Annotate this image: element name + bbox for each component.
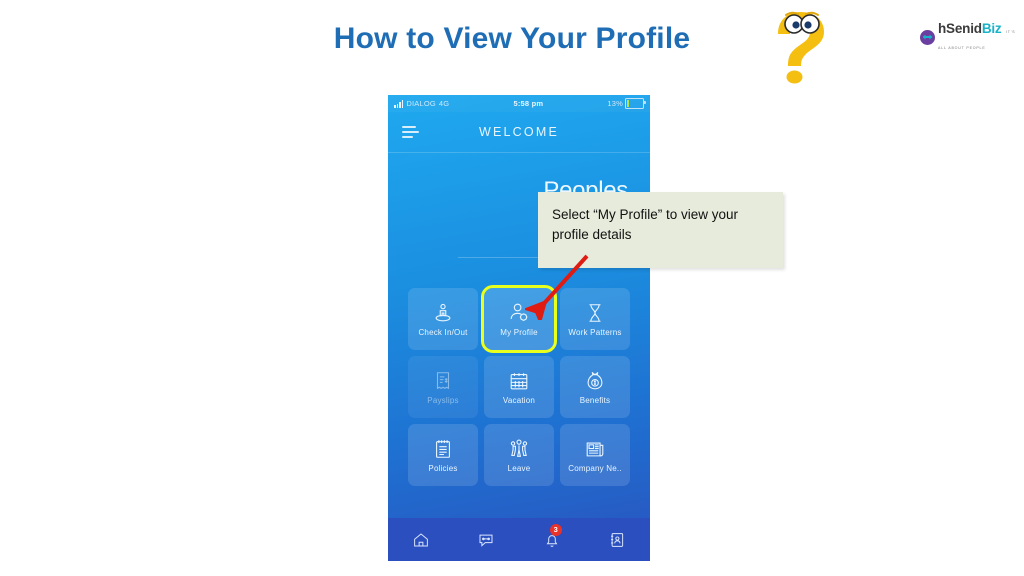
nav-contacts-button[interactable] [602,527,632,553]
tile-my-profile[interactable]: My Profile [484,288,554,350]
money-bag-icon [584,370,606,392]
nav-chat-button[interactable] [471,527,501,553]
carrier-label: DIALOG [406,99,436,108]
battery-icon [625,98,644,109]
tile-policies[interactable]: Policies [408,424,478,486]
hamburger-menu-icon[interactable] [402,123,419,141]
profile-gear-icon [508,302,530,324]
tile-grid: Check In/Out My Profile Work Patterns [408,288,630,486]
battery-percent-label: 13% [607,99,623,108]
tile-work-patterns[interactable]: Work Patterns [560,288,630,350]
tile-leave[interactable]: Leave [484,424,554,486]
tile-label: My Profile [500,328,538,337]
bottom-navigation-bar: 3 [388,518,650,561]
tile-label: Company Ne.. [568,464,622,473]
tile-label: Vacation [503,396,535,405]
signal-bars-icon [394,100,403,108]
people-group-icon [508,438,530,460]
tile-payslips[interactable]: Payslips [408,356,478,418]
page-title: How to View Your Profile [0,22,1024,56]
hourglass-icon [584,302,606,324]
tile-label: Check In/Out [418,328,467,337]
tile-benefits[interactable]: Benefits [560,356,630,418]
notepad-icon [432,438,454,460]
tile-label: Work Patterns [568,328,621,337]
tile-label: Benefits [580,396,611,405]
calendar-icon [508,370,530,392]
nav-notifications-button[interactable]: 3 [537,527,567,553]
status-bar: DIALOG 4G 5:58 pm 13% [388,95,650,112]
app-bar: WELCOME [388,112,650,153]
chat-icon [477,531,495,549]
payslip-icon [432,370,454,392]
notification-badge: 3 [550,524,562,536]
callout-box: Select “My Profile” to view your profile… [538,192,783,268]
logo-name: hSenidBiz [938,21,1001,36]
app-bar-title: WELCOME [388,125,650,139]
tile-check-in-out[interactable]: Check In/Out [408,288,478,350]
tile-vacation[interactable]: Vacation [484,356,554,418]
clock-label: 5:58 pm [449,99,607,108]
nav-home-button[interactable] [406,527,436,553]
tile-company-news[interactable]: Company Ne.. [560,424,630,486]
tile-label: Policies [428,464,457,473]
tile-label: Payslips [427,396,458,405]
home-icon [412,531,430,549]
tile-label: Leave [508,464,531,473]
newspaper-icon [584,438,606,460]
hsenidbiz-logo: hSenidBiz IT'S ALL ABOUT PEOPLE [920,24,1016,50]
logo-mark-icon [920,30,935,45]
check-in-out-icon [432,302,454,324]
phone-screenshot: DIALOG 4G 5:58 pm 13% WELCOME Peoples si… [388,95,650,561]
question-mark-mascot-icon [758,8,832,86]
network-label: 4G [439,99,449,108]
contact-card-icon [608,531,626,549]
